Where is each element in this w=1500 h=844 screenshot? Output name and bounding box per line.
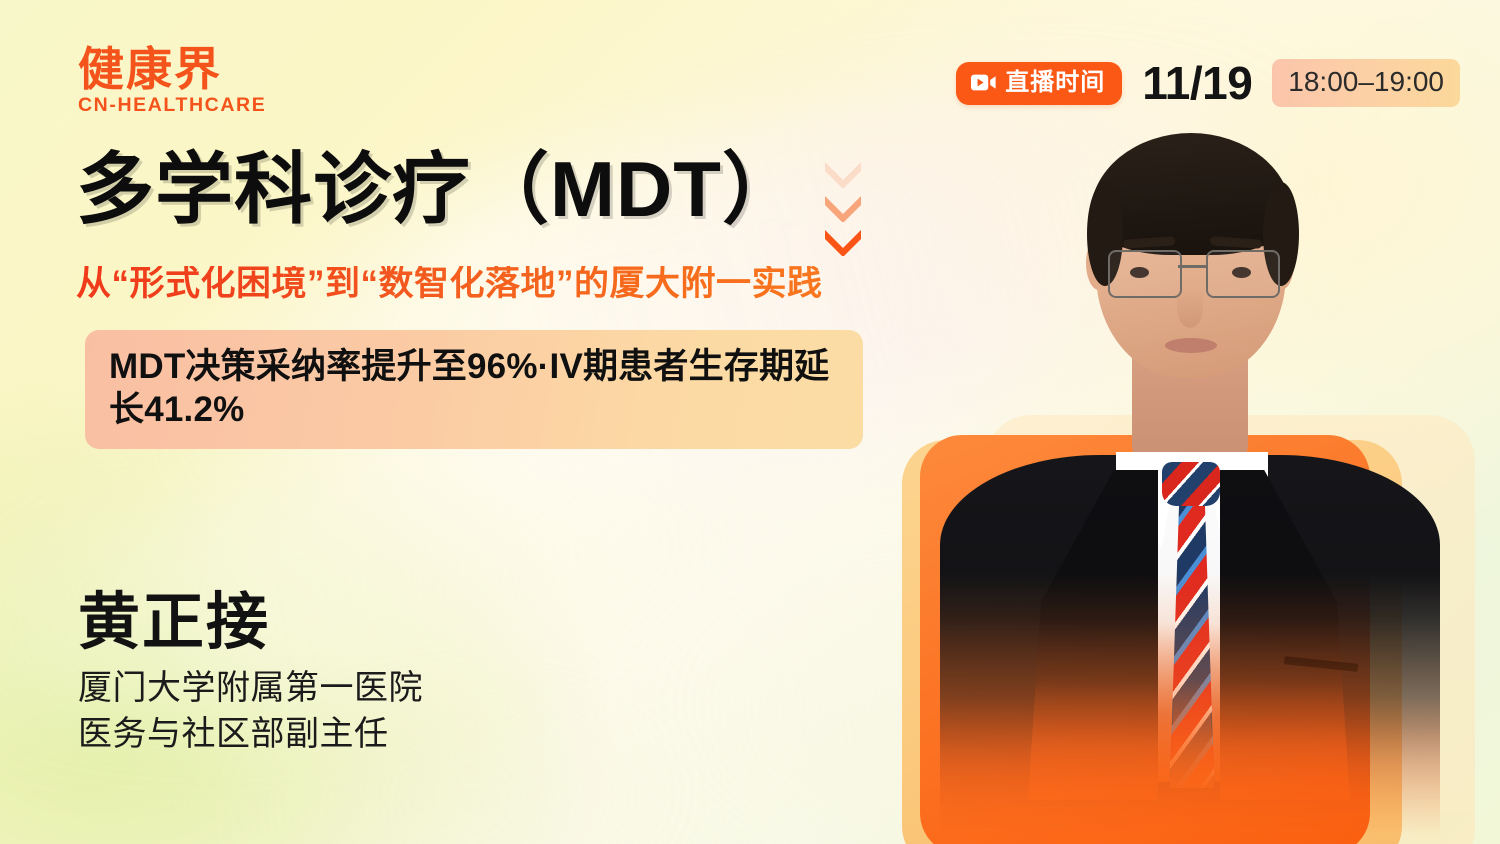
portrait-zone — [880, 0, 1500, 844]
speaker-name: 黄正接 — [78, 592, 423, 654]
speaker-organization: 厦门大学附属第一医院 — [78, 666, 423, 712]
portrait-fade-mask — [880, 0, 1500, 844]
portrait-necktie-knot — [1162, 462, 1220, 506]
brand-logo-en: CN-HEALTHCARE — [78, 96, 338, 116]
chevron-down-icon — [822, 226, 864, 256]
chevron-down-icon — [822, 192, 864, 222]
page-title: 多学科诊疗（MDT） — [76, 150, 801, 228]
page-subtitle: 从“形式化困境”到“数智化落地”的厦大附一实践 — [76, 266, 823, 301]
portrait-mouth — [1165, 338, 1217, 353]
key-metrics-highlight: MDT决策采纳率提升至96%·IV期患者生存期延长41.2% — [85, 330, 863, 449]
speaker-role: 医务与社区部副主任 — [78, 712, 423, 758]
speaker-portrait — [880, 0, 1500, 844]
portrait-nose — [1177, 288, 1203, 328]
glasses-lens-right — [1206, 250, 1280, 298]
live-session-poster: 健康界 CN-HEALTHCARE 直播时间 11/19 18:00–19:00 — [0, 0, 1500, 844]
glasses-lens-left — [1108, 250, 1182, 298]
chevron-down-icon — [822, 158, 864, 188]
brand-logo: 健康界 CN-HEALTHCARE — [78, 46, 338, 116]
glasses-bridge — [1178, 265, 1206, 268]
speaker-info: 黄正接 厦门大学附属第一医院 医务与社区部副主任 — [78, 592, 423, 758]
chevron-down-icon-group — [822, 158, 864, 256]
key-metrics-text: MDT决策采纳率提升至96%·IV期患者生存期延长41.2% — [109, 346, 839, 431]
brand-logo-cn: 健康界 — [78, 46, 338, 92]
